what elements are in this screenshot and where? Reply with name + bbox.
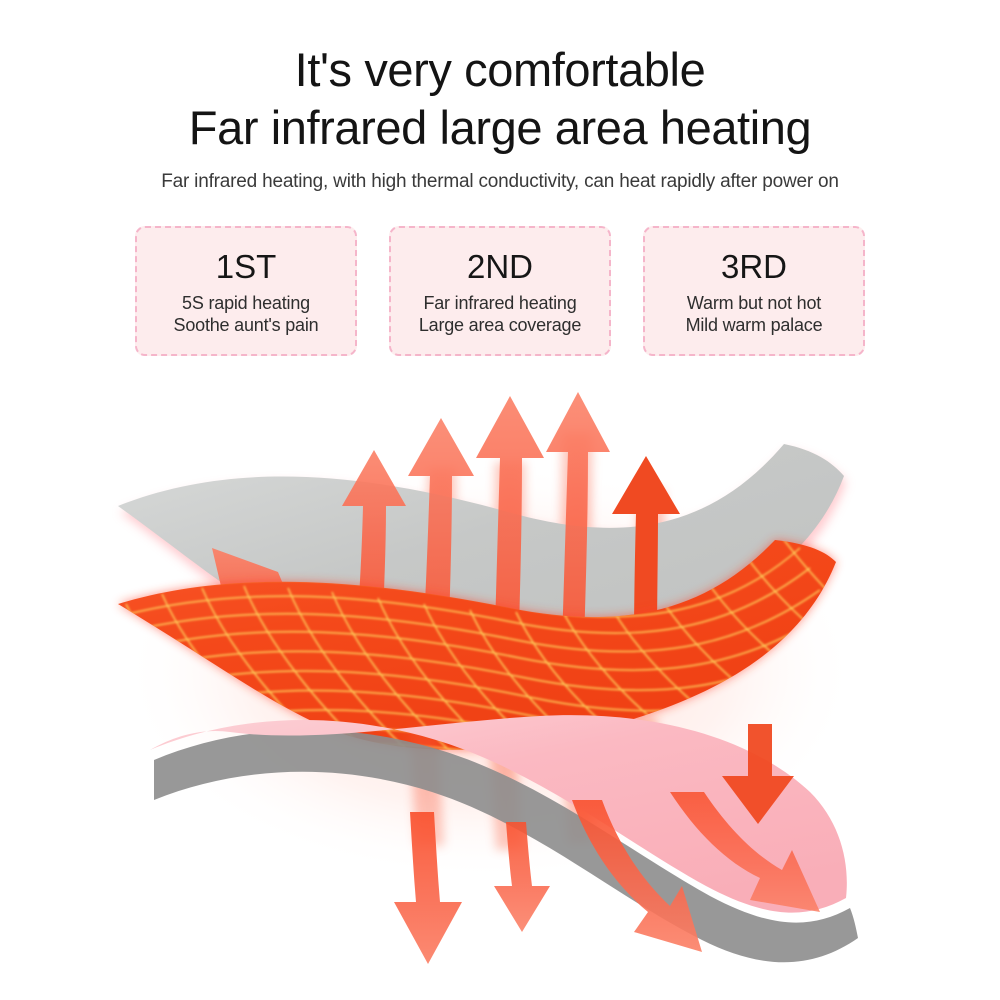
feature-description-line2: Large area coverage xyxy=(419,314,581,336)
feature-rank-label: 3RD xyxy=(721,249,787,285)
feature-rank-label: 1ST xyxy=(216,249,277,285)
feature-description-line2: Soothe aunt's pain xyxy=(174,314,319,336)
feature-rank-label: 2ND xyxy=(467,249,533,285)
feature-description-line1: Far infrared heating xyxy=(423,292,576,314)
feature-box-group: 1ST 5S rapid heating Soothe aunt's pain … xyxy=(135,226,865,356)
header-block: It's very comfortable Far infrared large… xyxy=(0,0,1000,194)
layer-diagram-illustration xyxy=(110,372,900,1000)
page-title-line1: It's very comfortable xyxy=(0,0,1000,96)
page-title-line2: Far infrared large area heating xyxy=(0,96,1000,154)
feature-box-1st: 1ST 5S rapid heating Soothe aunt's pain xyxy=(135,226,357,356)
feature-description-line2: Mild warm palace xyxy=(686,314,823,336)
feature-box-2nd: 2ND Far infrared heating Large area cove… xyxy=(389,226,611,356)
page-subtitle: Far infrared heating, with high thermal … xyxy=(0,154,1000,194)
feature-description-line1: Warm but not hot xyxy=(687,292,821,314)
feature-description-line1: 5S rapid heating xyxy=(182,292,310,314)
feature-box-3rd: 3RD Warm but not hot Mild warm palace xyxy=(643,226,865,356)
promo-page: It's very comfortable Far infrared large… xyxy=(0,0,1000,1000)
